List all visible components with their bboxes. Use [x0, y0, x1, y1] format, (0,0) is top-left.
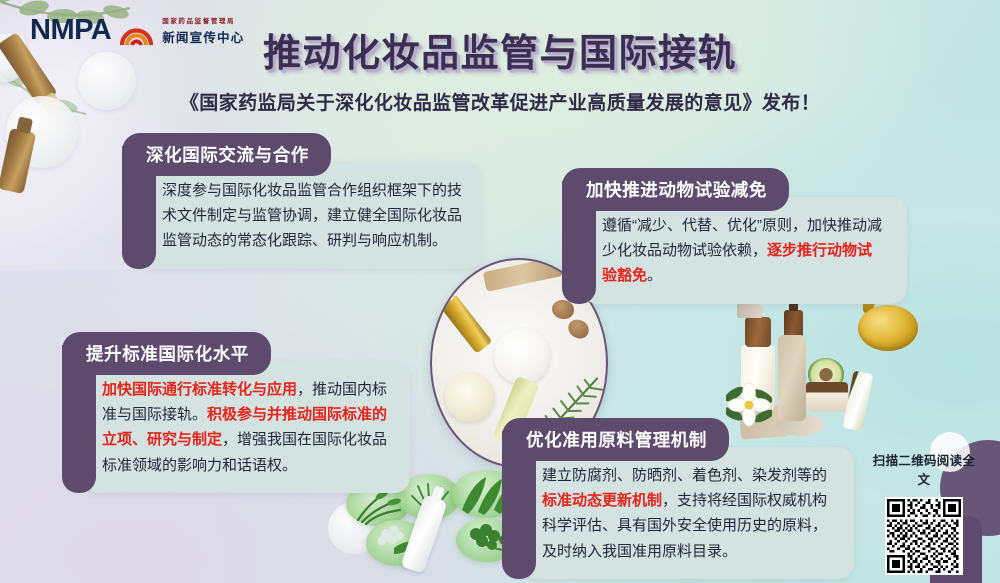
- page-subtitle: 《国家药监局关于深化化妆品监管改革促进产业高质量发展的意见》发布！: [0, 88, 1000, 115]
- qr-section: 扫描二维码阅读全文: [870, 450, 978, 575]
- card-text-highlight: 标准动态更新机制: [542, 492, 662, 509]
- info-card-international-cooperation: 深化国际交流与合作 深度参与国际化妆品监管合作组织框架下的技术文件制定与监管协调…: [122, 133, 482, 269]
- petri-dish-decor: [366, 520, 428, 566]
- page-title: 推动化妆品监管与国际接轨: [0, 22, 1000, 77]
- cream-jar-decor: [806, 382, 848, 412]
- herb-sprig-icon: [352, 486, 408, 531]
- essential-oil-bottle-decor: [784, 310, 803, 344]
- card-heading: 加快推进动物试验减免: [562, 168, 789, 211]
- card-text-tail: 。: [647, 267, 662, 284]
- card-body: 深度参与国际化妆品监管合作组织框架下的技术文件制定与监管协调，建立健全国际化妆品…: [142, 162, 482, 269]
- card-body: 遵循“减少、代替、优化”原则，加快推动减少化妆品动物试验依赖，逐步推行动物试验豁…: [582, 197, 907, 304]
- cream-swatch-decor: [328, 502, 380, 554]
- herb-flower-icon: [372, 524, 424, 569]
- qr-label: 扫描二维码阅读全文: [870, 450, 978, 488]
- card-text: 深度参与国际化妆品监管合作组织框架下的技术文件制定与监管协调，建立健全国际化妆品…: [162, 182, 462, 249]
- herb-sprig-icon: [406, 478, 456, 523]
- avocado-icon: [808, 358, 844, 390]
- infographic-poster: NMPA 国家药品监督管理局 新闻宣传中心 推动化妆品监管与国际接轨 《国家药监…: [0, 0, 1000, 583]
- amber-bottle-decor: [0, 128, 36, 194]
- info-card-standards: 提升标准国际化水平 加快国际通行标准转化与应用，推动国内标准与国际接轨。积极参与…: [62, 332, 410, 493]
- card-body: 加快国际通行标准转化与应用，推动国内标准与国际接轨。积极参与并推动国际标准的立项…: [82, 361, 410, 493]
- card-text-1: 建立防腐剂、防晒剂、着色剂、染发剂等的: [542, 467, 827, 484]
- card-text-highlight-1: 加快国际通行标准转化与应用: [102, 381, 297, 398]
- pump-bottle-decor: [741, 345, 775, 411]
- stone-pillar-decor: [778, 335, 806, 421]
- golden-oil-drop-decor: [858, 305, 918, 351]
- card-heading: 提升标准国际化水平: [62, 332, 271, 375]
- card-heading: 深化国际交流与合作: [122, 133, 331, 176]
- card-body: 建立防腐剂、防晒剂、着色剂、染发剂等的标准动态更新机制，支持将经国际权威机构科学…: [522, 447, 854, 579]
- info-card-permitted-ingredients: 优化准用原料管理机制 建立防腐剂、防晒剂、着色剂、染发剂等的标准动态更新机制，支…: [502, 418, 854, 579]
- info-card-animal-testing: 加快推进动物试验减免 遵循“减少、代替、优化”原则，加快推动减少化妆品动物试验依…: [562, 168, 907, 304]
- card-heading: 优化准用原料管理机制: [502, 418, 729, 461]
- qr-code-icon[interactable]: [885, 497, 963, 575]
- serum-bottle-decor: [400, 494, 447, 574]
